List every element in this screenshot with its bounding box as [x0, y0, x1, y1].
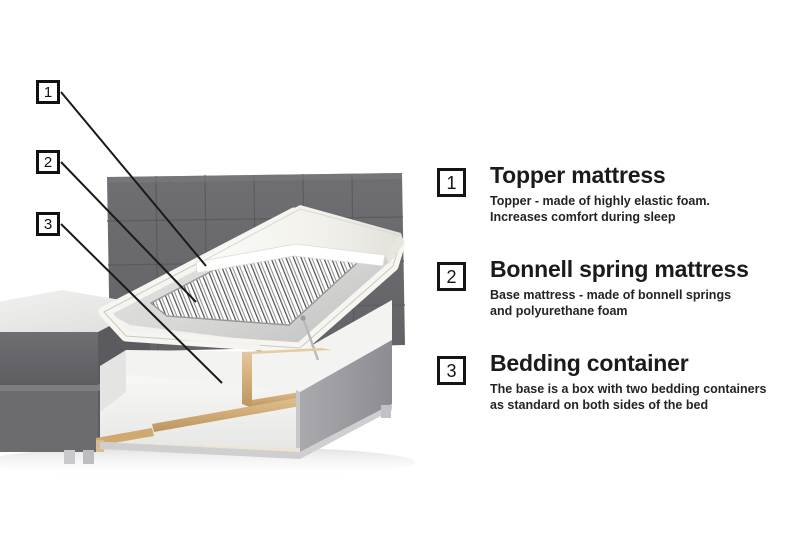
legend-item-topper-mattress[interactable]: 1 Topper mattress Topper - made of highl…	[437, 163, 792, 226]
legend-title-1: Topper mattress	[490, 163, 710, 189]
callout-marker-1-label: 1	[44, 85, 52, 100]
legend-item-bonnell-spring-mattress[interactable]: 2 Bonnell spring mattress Base mattress …	[437, 257, 792, 320]
callout-marker-2-label: 2	[44, 155, 52, 170]
legend: 1 Topper mattress Topper - made of highl…	[437, 163, 792, 414]
bed-leg	[83, 450, 94, 464]
legend-desc-1: Topper - made of highly elastic foam. In…	[490, 193, 710, 226]
legend-desc-1-line-2: Increases comfort during sleep	[490, 209, 710, 226]
bed-cutaway-svg	[0, 0, 430, 533]
callout-marker-1[interactable]: 1	[36, 80, 60, 104]
bed-illustration: 1 2 3	[0, 0, 430, 533]
legend-desc-2-line-1: Base mattress - made of bonnell springs	[490, 287, 749, 304]
legend-text-block: Bonnell spring mattress Base mattress - …	[490, 257, 749, 320]
legend-item-bedding-container[interactable]: 3 Bedding container The base is a box wi…	[437, 351, 792, 414]
legend-desc-3-line-2: as standard on both sides of the bed	[490, 397, 766, 414]
legend-badge-3: 3	[437, 356, 466, 385]
legend-desc-1-line-1: Topper - made of highly elastic foam.	[490, 193, 710, 210]
legend-text-block: Topper mattress Topper - made of highly …	[490, 163, 710, 226]
legend-title-3: Bedding container	[490, 351, 766, 377]
legend-desc-3: The base is a box with two bedding conta…	[490, 381, 766, 414]
legend-badge-3-label: 3	[446, 362, 456, 380]
legend-badge-2: 2	[437, 262, 466, 291]
bed-leg	[381, 405, 391, 418]
callout-marker-3-label: 3	[44, 217, 52, 232]
legend-desc-3-line-1: The base is a box with two bedding conta…	[490, 381, 766, 398]
legend-badge-2-label: 2	[446, 268, 456, 286]
callout-marker-3[interactable]: 3	[36, 212, 60, 236]
legend-desc-2-line-2: and polyurethane foam	[490, 303, 749, 320]
legend-title-2: Bonnell spring mattress	[490, 257, 749, 283]
legend-badge-1: 1	[437, 168, 466, 197]
diagram-canvas: 1 2 3 1 Topper mattress Topper - made of…	[0, 0, 800, 533]
bed-leg	[64, 450, 75, 464]
legend-text-block: Bedding container The base is a box with…	[490, 351, 766, 414]
callout-marker-2[interactable]: 2	[36, 150, 60, 174]
legend-desc-2: Base mattress - made of bonnell springs …	[490, 287, 749, 320]
legend-badge-1-label: 1	[446, 174, 456, 192]
